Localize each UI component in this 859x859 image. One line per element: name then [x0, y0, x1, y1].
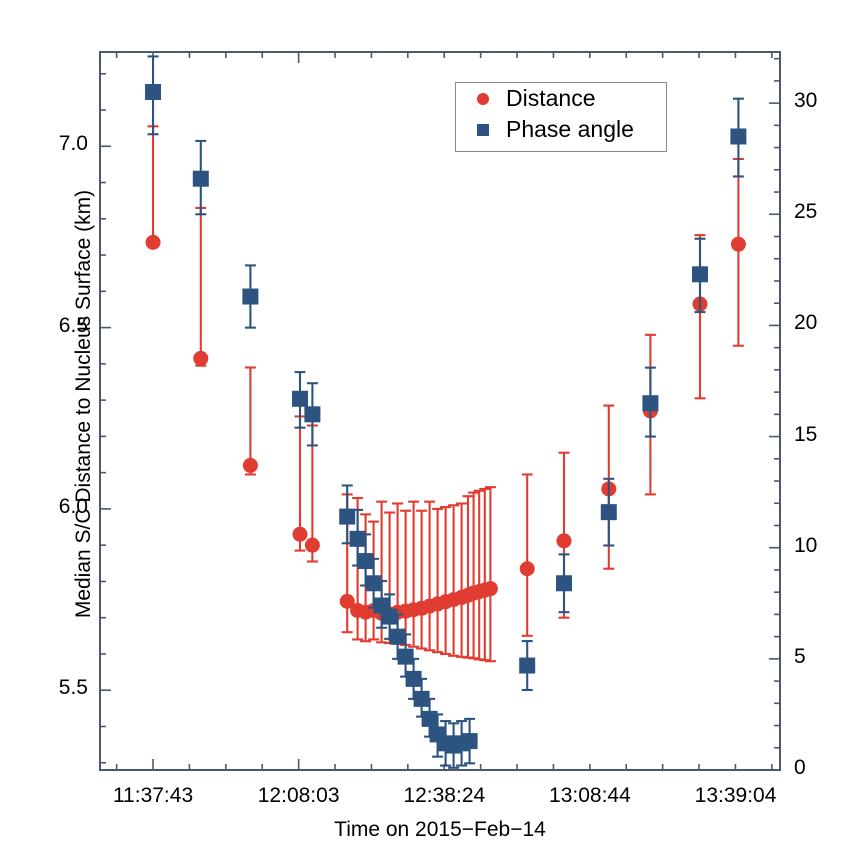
left-axis-tick-label: 6.0	[18, 495, 88, 519]
chart-figure: Median S/C Distance to Nucleus Surface (…	[0, 0, 859, 859]
x-axis-tick-label: 13:39:04	[656, 784, 816, 808]
legend-label-distance: Distance	[506, 85, 595, 112]
plot-canvas	[0, 0, 859, 859]
x-axis-tick-label: 12:08:03	[219, 784, 379, 808]
x-axis-tick-label: 11:37:43	[73, 784, 233, 808]
legend: Distance Phase angle	[455, 82, 667, 152]
square-marker-icon	[470, 124, 496, 136]
right-axis-tick-label: 0	[794, 756, 859, 780]
right-axis-tick-label: 25	[794, 200, 859, 224]
legend-entry-distance: Distance	[456, 83, 666, 114]
circle-marker-icon	[470, 93, 496, 105]
left-axis-tick-label: 6.5	[18, 314, 88, 338]
x-axis-tick-label: 12:38:24	[364, 784, 524, 808]
right-axis-tick-label: 10	[794, 534, 859, 558]
legend-label-phase-angle: Phase angle	[506, 116, 634, 143]
left-axis-tick-label: 5.5	[18, 676, 88, 700]
right-axis-tick-label: 20	[794, 311, 859, 335]
right-axis-tick-label: 30	[794, 89, 859, 113]
right-axis-tick-label: 5	[794, 645, 859, 669]
series-distance	[146, 126, 746, 661]
x-axis-tick-label: 13:08:44	[510, 784, 670, 808]
left-axis-tick-label: 7.0	[18, 132, 88, 156]
axis-ticks	[100, 52, 780, 770]
legend-entry-phase-angle: Phase angle	[456, 114, 666, 145]
plot-frame	[100, 52, 780, 770]
right-axis-tick-label: 15	[794, 423, 859, 447]
